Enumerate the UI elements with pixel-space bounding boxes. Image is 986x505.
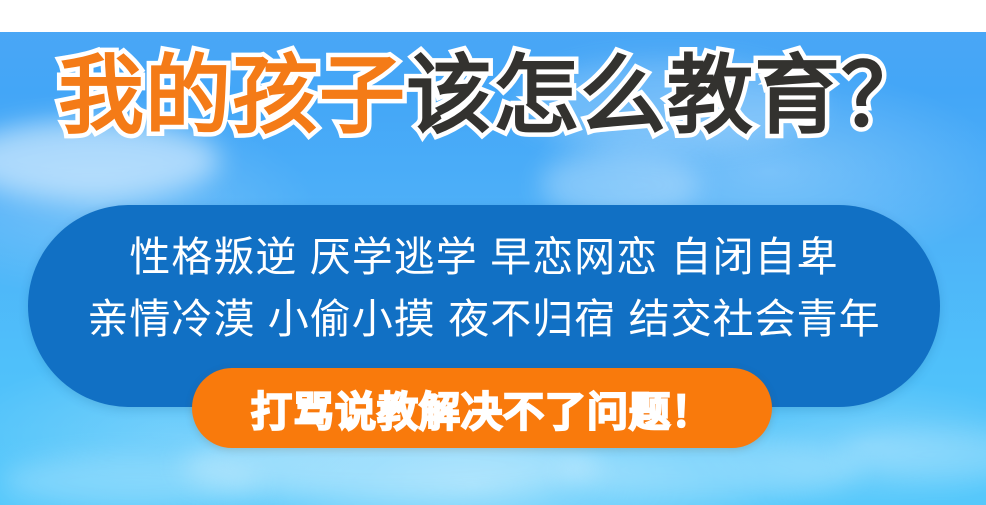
cta-button[interactable]: 打骂说教解决不了问题！ <box>192 368 772 448</box>
poster-canvas: 我的孩子该怎么教育？ 性格叛逆 厌学逃学 早恋网恋 自闭自卑 亲情冷漠 小偷小摸… <box>0 0 986 505</box>
cloud-wisp <box>0 455 260 505</box>
issues-line-1: 性格叛逆 厌学逃学 早恋网恋 自闭自卑 <box>28 227 940 289</box>
page-title: 我的孩子该怎么教育？ <box>0 48 986 144</box>
issues-list: 性格叛逆 厌学逃学 早恋网恋 自闭自卑 亲情冷漠 小偷小摸 夜不归宿 结交社会青… <box>28 227 940 350</box>
top-cloud-band <box>0 0 986 32</box>
page-title-rest: 该怎么教育？ <box>406 48 928 144</box>
page-title-highlight: 我的孩子 <box>58 48 406 144</box>
cta-button-label: 打骂说教解决不了问题！ <box>251 378 713 438</box>
cloud-wisp <box>840 430 986 480</box>
issues-line-2: 亲情冷漠 小偷小摸 夜不归宿 结交社会青年 <box>28 289 940 351</box>
cloud-wisp <box>560 440 860 500</box>
